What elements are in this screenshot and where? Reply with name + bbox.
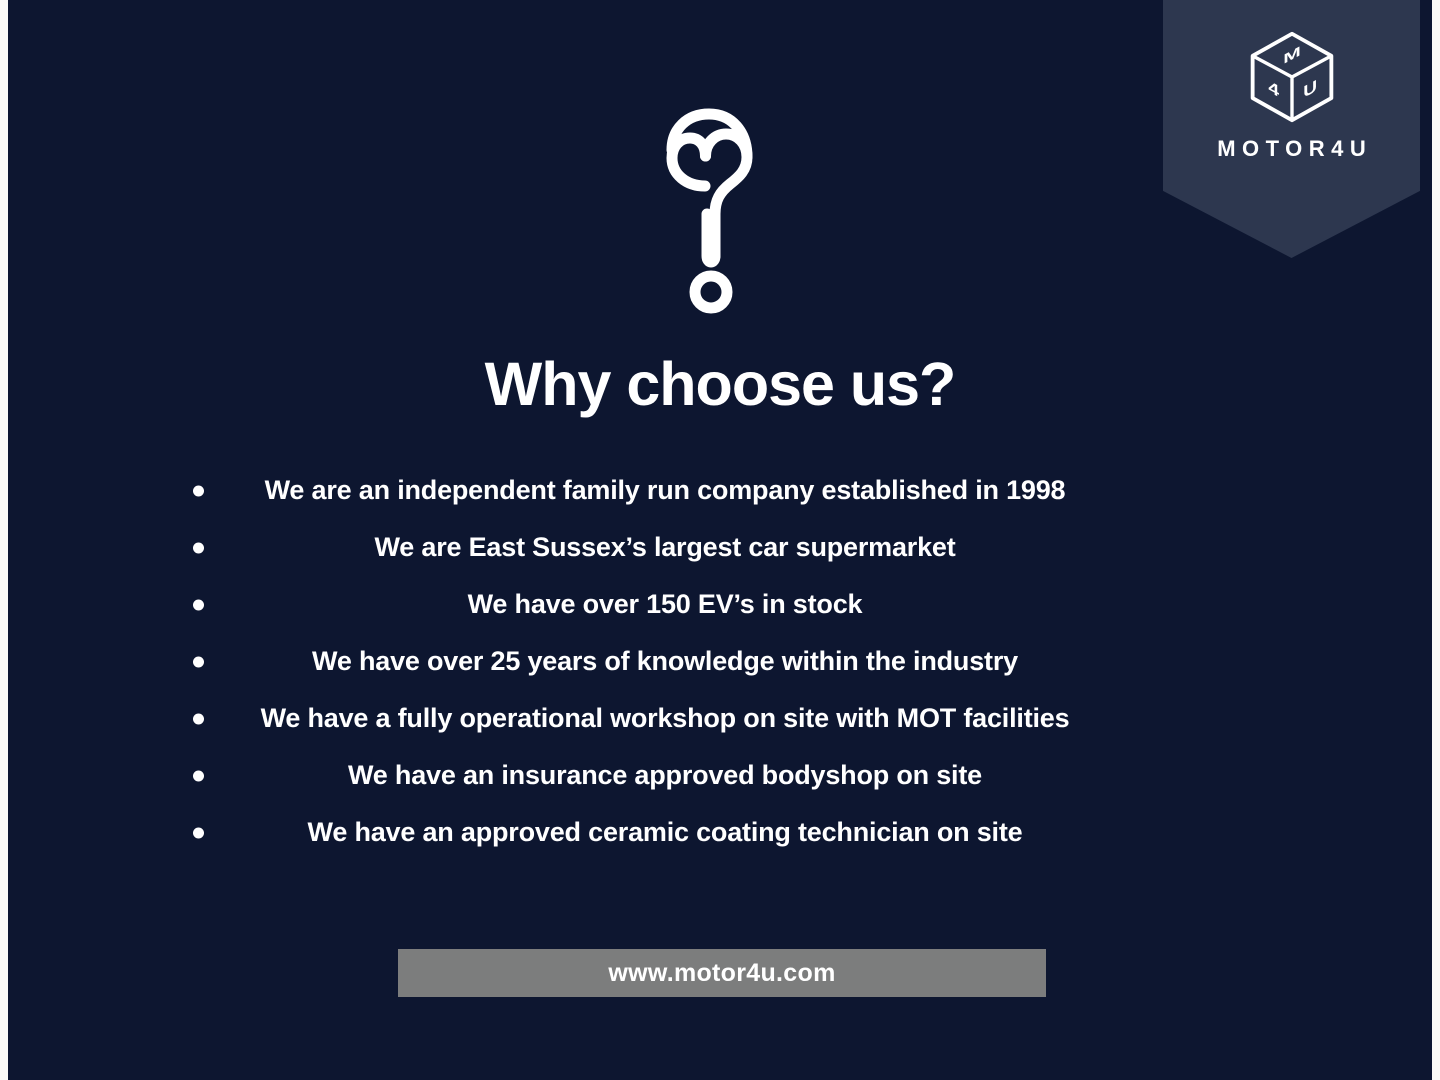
cube-logo-icon: M 4 U: [1244, 28, 1340, 124]
benefit-text: We have over 25 years of knowledge withi…: [312, 646, 1018, 677]
benefit-text: We are an independent family run company…: [265, 475, 1066, 506]
left-edge-strip: [0, 0, 8, 1080]
bullet-icon: [193, 656, 204, 667]
list-item: We have an insurance approved bodyshop o…: [60, 747, 1270, 804]
list-item: We have an approved ceramic coating tech…: [60, 804, 1270, 861]
page-title: Why choose us?: [0, 352, 1440, 416]
svg-text:M: M: [1283, 44, 1301, 68]
benefit-text: We have an insurance approved bodyshop o…: [348, 760, 982, 791]
slide-canvas: M 4 U MOTOR4U: [0, 0, 1440, 1080]
website-url[interactable]: www.motor4u.com: [608, 959, 835, 988]
right-edge-strip: [1432, 0, 1440, 1080]
list-item: We are an independent family run company…: [60, 462, 1270, 519]
question-mark-icon: [645, 88, 795, 328]
svg-text:4: 4: [1268, 78, 1279, 102]
bullet-icon: [193, 827, 204, 838]
bullet-icon: [193, 599, 204, 610]
svg-text:U: U: [1303, 77, 1317, 102]
brand-wordmark: MOTOR4U: [1211, 138, 1373, 160]
benefits-list: We are an independent family run company…: [60, 462, 1270, 861]
bullet-icon: [193, 485, 204, 496]
benefit-text: We have over 150 EV’s in stock: [468, 589, 863, 620]
bullet-icon: [193, 770, 204, 781]
bullet-icon: [193, 713, 204, 724]
list-item: We have over 150 EV’s in stock: [60, 576, 1270, 633]
brand-logo-inner: M 4 U MOTOR4U: [1163, 28, 1420, 160]
list-item: We are East Sussex’s largest car superma…: [60, 519, 1270, 576]
benefit-text: We have a fully operational workshop on …: [261, 703, 1070, 734]
list-item: We have a fully operational workshop on …: [60, 690, 1270, 747]
benefit-text: We have an approved ceramic coating tech…: [308, 817, 1023, 848]
list-item: We have over 25 years of knowledge withi…: [60, 633, 1270, 690]
website-bar[interactable]: www.motor4u.com: [398, 949, 1046, 997]
bullet-icon: [193, 542, 204, 553]
benefit-text: We are East Sussex’s largest car superma…: [374, 532, 955, 563]
